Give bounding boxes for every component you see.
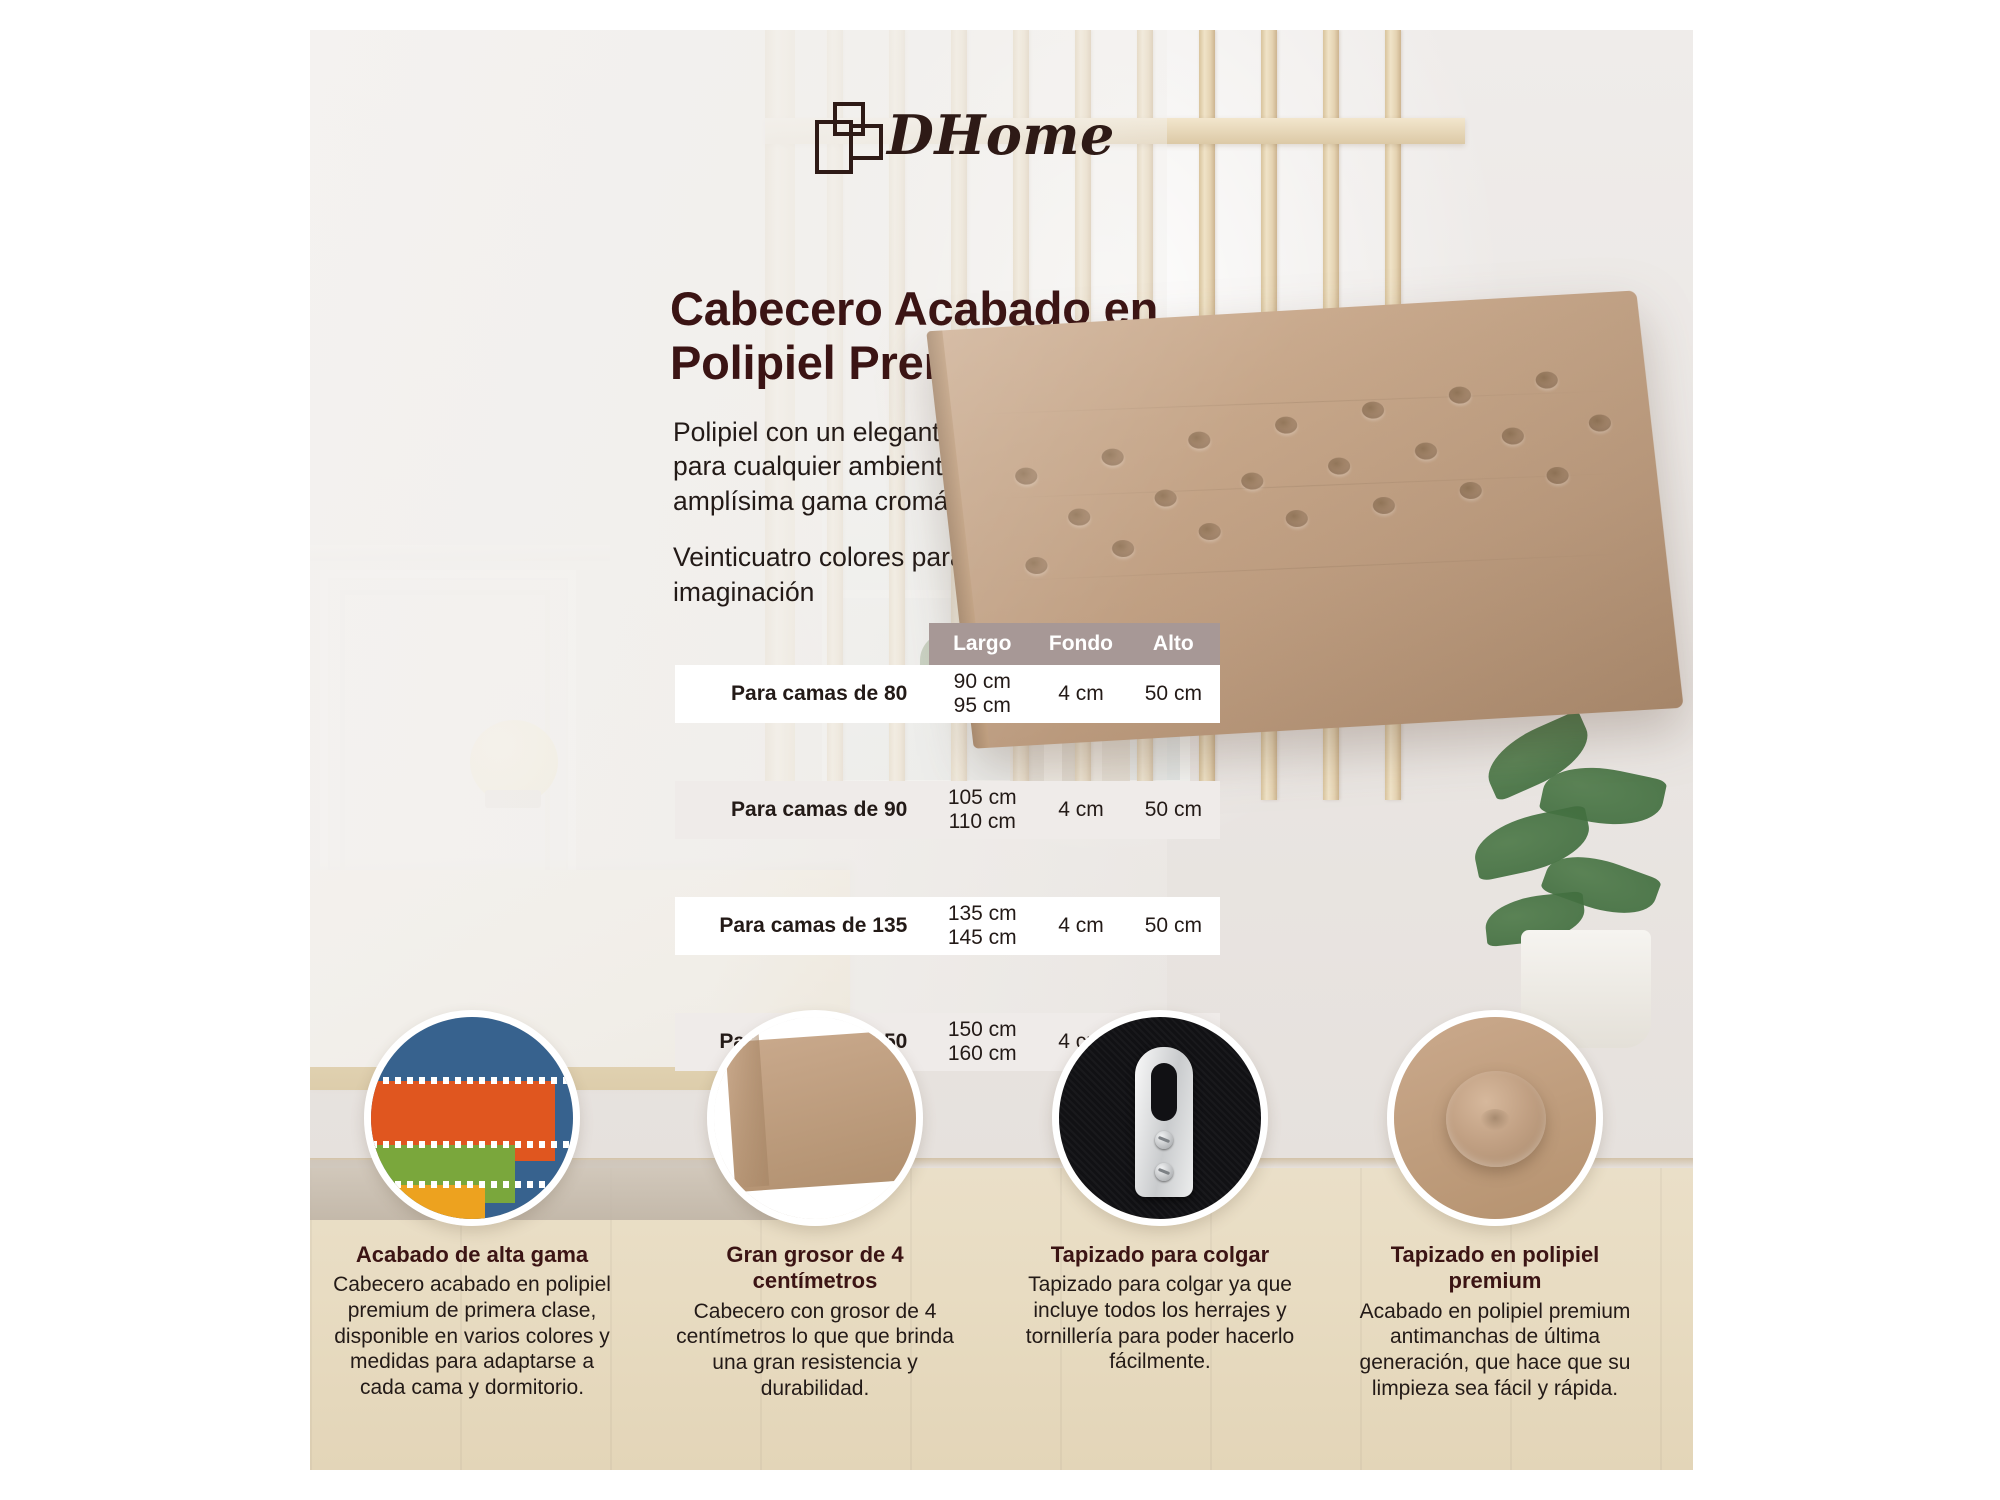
tufting-button: [1154, 489, 1178, 507]
tufting-button: [1372, 496, 1396, 514]
feature-body: Acabado en polipiel premium antimanchas …: [1345, 1299, 1645, 1401]
row-label: Para camas de 90: [675, 781, 929, 839]
feature-body: Cabecero con grosor de 4 centímetros lo …: [665, 1299, 965, 1401]
brand-name: DHome: [887, 103, 1115, 167]
headboard-thickness-icon: [707, 1010, 923, 1226]
tufting-button: [1187, 431, 1211, 449]
feature-item-grosor: Gran grosor de 4 centímetros Cabecero co…: [665, 1010, 965, 1401]
tufting-button: [1274, 416, 1298, 434]
row-fondo: 4 cm: [1035, 897, 1126, 955]
upholstery-button-icon: [1387, 1010, 1603, 1226]
wall-hanging-bracket-icon: [1052, 1010, 1268, 1226]
largo-value-1: 135 cm: [929, 902, 1035, 926]
tufting-button: [1327, 457, 1351, 475]
feature-title: Acabado de alta gama: [322, 1242, 622, 1268]
feature-body: Cabecero acabado en polipiel premium de …: [322, 1272, 622, 1400]
tufting-button: [1101, 448, 1125, 466]
largo-value-1: 90 cm: [929, 670, 1035, 694]
row-fondo: 4 cm: [1035, 665, 1126, 723]
row-fondo: 4 cm: [1035, 781, 1126, 839]
tufting-button: [1588, 414, 1612, 432]
row-label: Para camas de 135: [675, 897, 929, 955]
tufting-button: [1361, 401, 1385, 419]
feature-item-alta-gama: Acabado de alta gama Cabecero acabado en…: [322, 1010, 622, 1400]
fabric-color-swatches-icon: [364, 1010, 580, 1226]
tufting-button: [1014, 467, 1038, 485]
row-alto: 50 cm: [1127, 897, 1220, 955]
tufting-button: [1459, 481, 1483, 499]
tufting-button: [1198, 522, 1222, 540]
feature-title: Tapizado en polipiel premium: [1345, 1242, 1645, 1295]
dimensions-table: Largo Fondo Alto Para camas de 80 90 cm …: [675, 623, 1220, 1071]
table-row: Para camas de 80 90 cm 95 cm 4 cm 50 cm: [675, 665, 1220, 723]
tufting-button: [1285, 509, 1309, 527]
tufting-button: [1240, 472, 1264, 490]
tufting-button: [1501, 427, 1525, 445]
row-largo: 105 cm 110 cm: [929, 781, 1035, 839]
feature-title: Gran grosor de 4 centímetros: [665, 1242, 965, 1295]
row-largo: 135 cm 145 cm: [929, 897, 1035, 955]
table-header-blank: [675, 623, 929, 665]
feature-item-polipiel: Tapizado en polipiel premium Acabado en …: [1345, 1010, 1645, 1401]
largo-value-2: 95 cm: [929, 694, 1035, 718]
tufting-button: [1024, 556, 1048, 574]
row-label: Para camas de 80: [675, 665, 929, 723]
screenshot-canvas: DHome Cabecero Acabado en Polipiel Premi…: [0, 0, 2000, 1500]
table-row: Para camas de 135 135 cm 145 cm 4 cm 50 …: [675, 897, 1220, 955]
tufting-button: [1067, 508, 1091, 526]
table-header-largo: Largo: [929, 623, 1035, 665]
dhome-squares-logo-icon: [815, 102, 877, 168]
tufting-button: [1414, 442, 1438, 460]
tufting-button: [1546, 466, 1570, 484]
largo-value-2: 110 cm: [929, 810, 1035, 834]
row-largo: 90 cm 95 cm: [929, 665, 1035, 723]
feature-title: Tapizado para colgar: [1010, 1242, 1310, 1268]
product-infographic-card: DHome Cabecero Acabado en Polipiel Premi…: [310, 30, 1693, 1470]
table-row: Para camas de 90 105 cm 110 cm 4 cm 50 c…: [675, 781, 1220, 839]
largo-value-2: 145 cm: [929, 926, 1035, 950]
brand-logo: DHome: [815, 102, 1115, 168]
table-header-alto: Alto: [1127, 623, 1220, 665]
largo-value-1: 105 cm: [929, 786, 1035, 810]
tufting-button: [1111, 539, 1135, 557]
row-alto: 50 cm: [1127, 781, 1220, 839]
feature-item-colgar: Tapizado para colgar Tapizado para colga…: [1010, 1010, 1310, 1375]
table-header-fondo: Fondo: [1035, 623, 1126, 665]
tufting-button: [1535, 371, 1559, 389]
table-header-row: Largo Fondo Alto: [675, 623, 1220, 665]
row-alto: 50 cm: [1127, 665, 1220, 723]
feature-body: Tapizado para colgar ya que incluye todo…: [1010, 1272, 1310, 1374]
tufting-button: [1448, 386, 1472, 404]
